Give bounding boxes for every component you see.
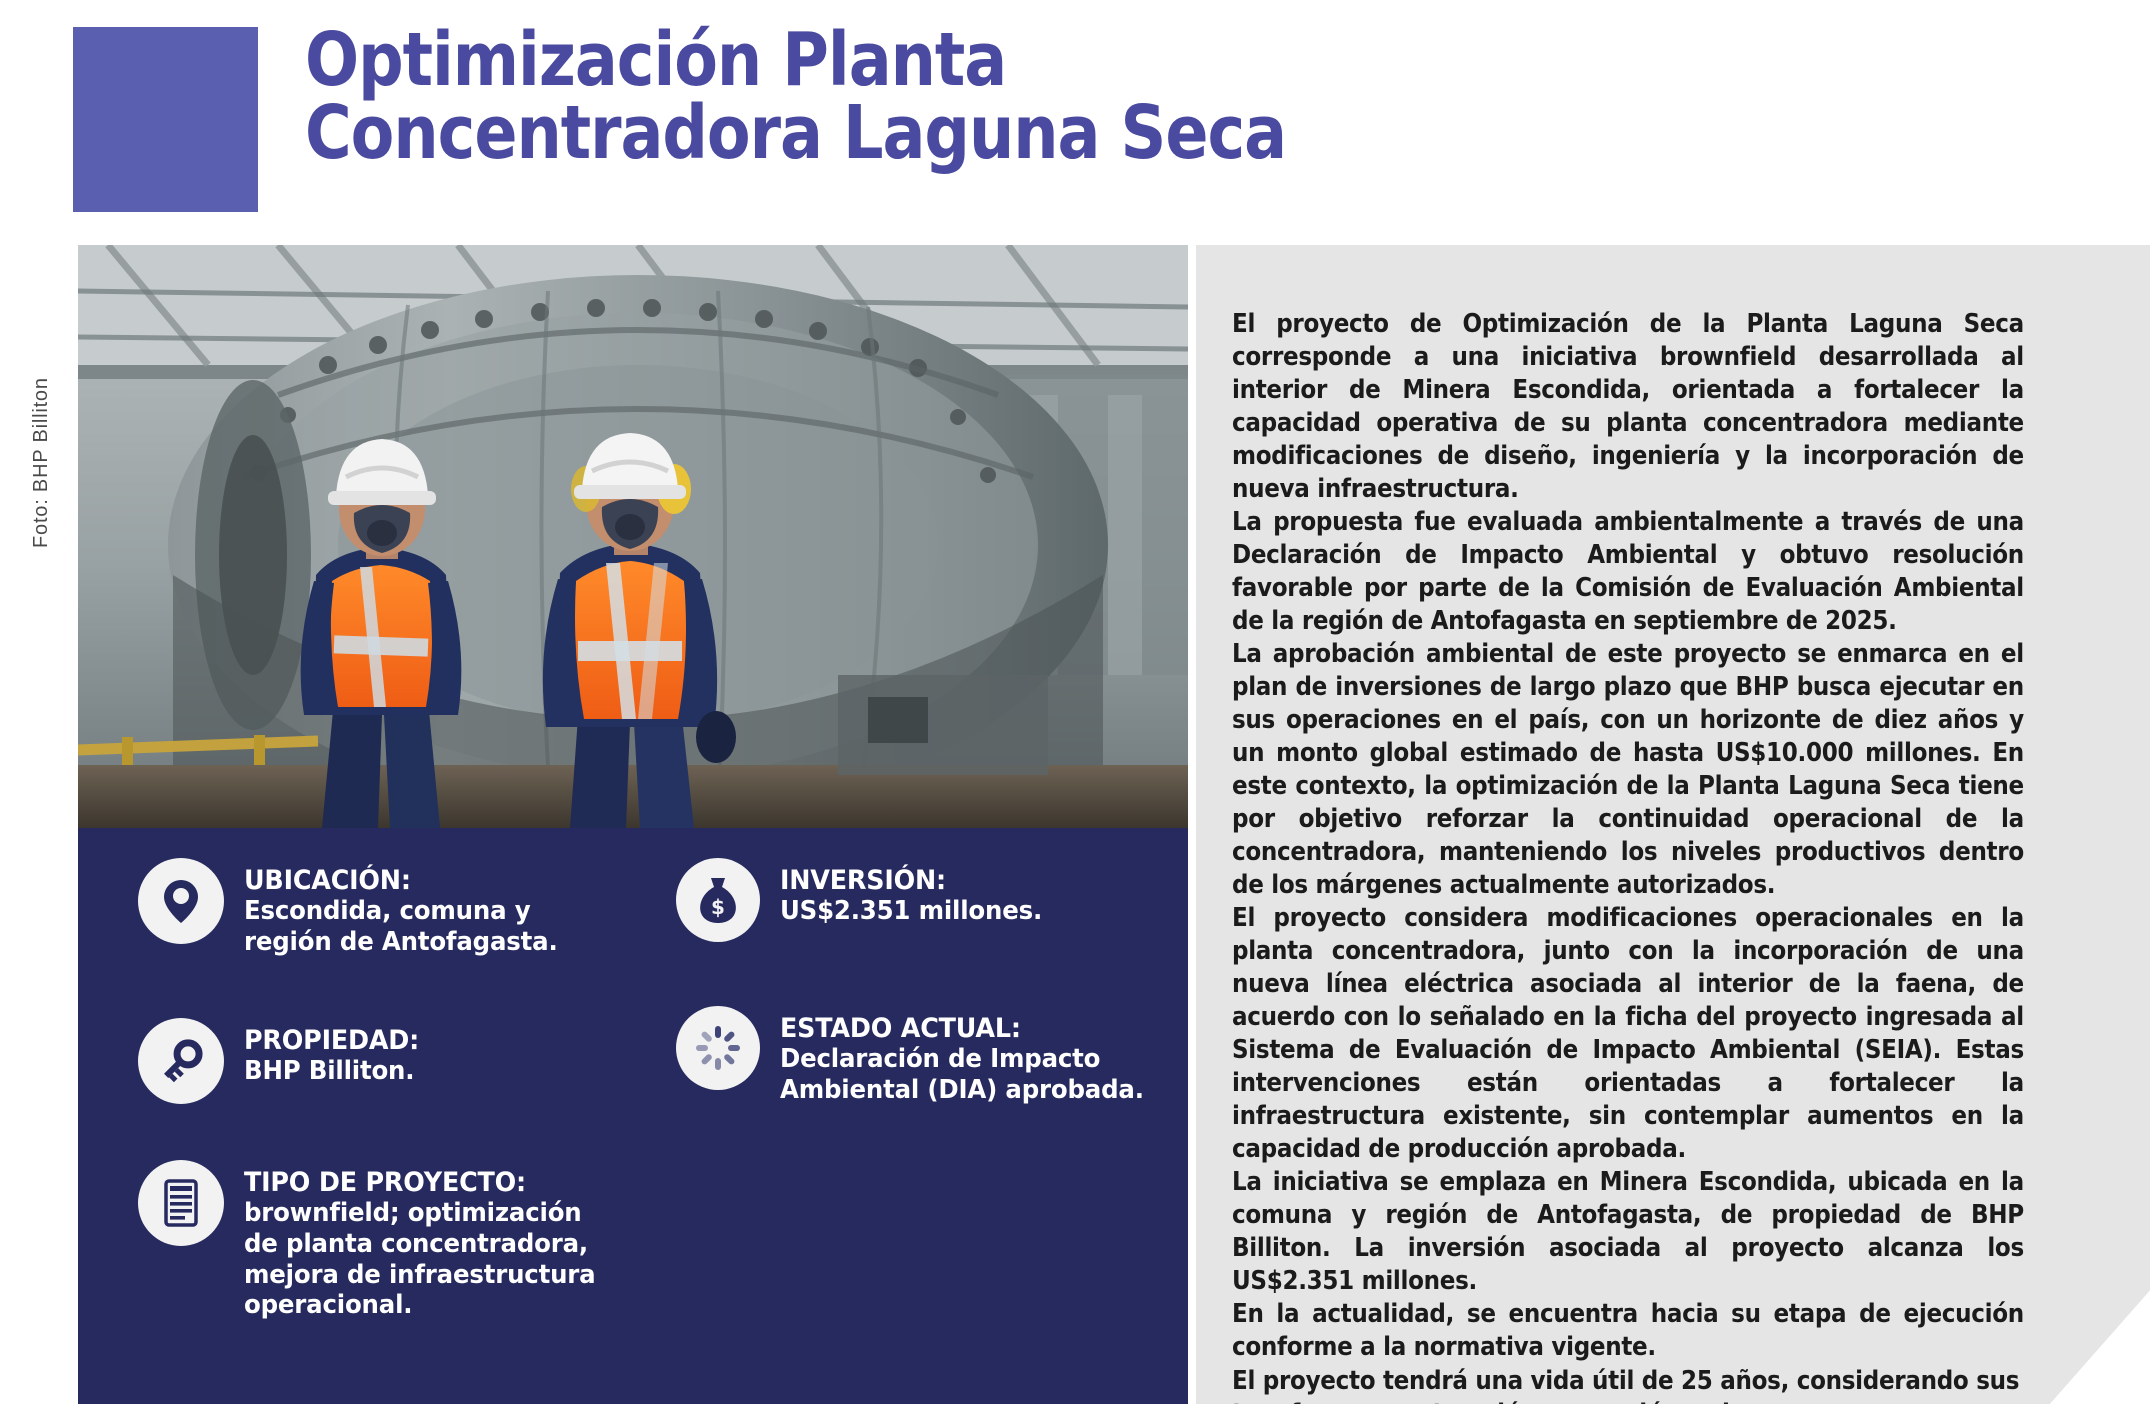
fact-label: ESTADO ACTUAL: [780,1013,1144,1044]
paragraph: El proyecto tendrá una vida útil de 25 a… [1232,1365,2024,1404]
key-facts-panel: UBICACIÓN: Escondida, comuna y región de… [78,828,1188,1404]
location-pin-icon [138,858,224,944]
paragraph: El proyecto considera modificaciones ope… [1232,902,2024,1166]
paragraph: El proyecto de Optimización de la Planta… [1232,308,2024,506]
page-title: Optimización Planta Concentradora Laguna… [305,24,1767,171]
spinner-icon [676,1006,760,1090]
header-accent-block [73,27,258,212]
right-column: El proyecto de Optimización de la Planta… [1196,245,2150,1404]
fact-value: brownfield; optimización de planta conce… [244,1198,595,1321]
fact-label: PROPIEDAD: [244,1025,419,1056]
fact-ubicacion: UBICACIÓN: Escondida, comuna y región de… [138,858,578,958]
fact-propiedad: PROPIEDAD: BHP Billiton. [138,1018,430,1104]
paragraph: En la actualidad, se encuentra hacia su … [1232,1298,2024,1364]
document-icon [138,1160,224,1246]
fact-value: Declaración de Impacto Ambiental (DIA) a… [780,1044,1144,1105]
fact-value: Escondida, comuna y región de Antofagast… [244,896,558,957]
fact-label: TIPO DE PROYECTO: [244,1167,595,1198]
fact-label: UBICACIÓN: [244,865,558,896]
fact-label: INVERSIÓN: [780,865,1042,896]
left-column: UBICACIÓN: Escondida, comuna y región de… [78,245,1188,1404]
page-header: Optimización Planta Concentradora Laguna… [0,0,2150,238]
key-icon [138,1018,224,1104]
project-description: El proyecto de Optimización de la Planta… [1232,308,2024,1404]
project-photo [78,245,1188,828]
paragraph: La propuesta fue evaluada ambientalmente… [1232,506,2024,638]
fact-tipo-de-proyecto: TIPO DE PROYECTO: brownfield; optimizaci… [138,1160,618,1321]
paragraph: La aprobación ambiental de este proyecto… [1232,638,2024,902]
fact-inversion: $ INVERSIÓN: US$2.351 millones. [676,858,1059,942]
photo-credit: Foto: BHP Billiton [30,258,66,548]
fact-estado-actual: ESTADO ACTUAL: Declaración de Impacto Am… [676,1006,1167,1106]
paragraph: La iniciativa se emplaza en Minera Escon… [1232,1166,2024,1298]
fact-value: US$2.351 millones. [780,896,1042,927]
money-bag-icon: $ [676,858,760,942]
fact-sheet-page: Optimización Planta Concentradora Laguna… [0,0,2150,1404]
svg-text:$: $ [711,895,725,919]
fact-value: BHP Billiton. [244,1056,419,1087]
